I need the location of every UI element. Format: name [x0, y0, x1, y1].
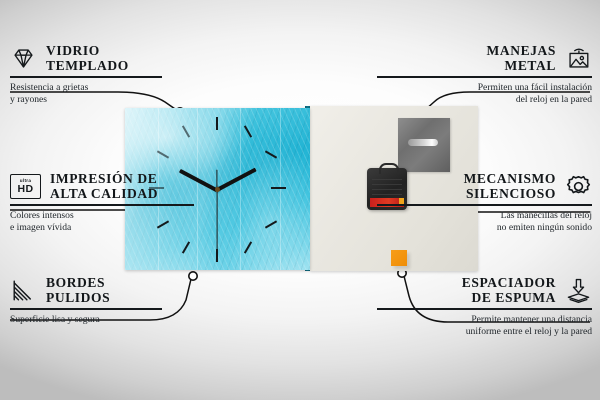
feature-desc-line2: del reloj en la pared	[377, 94, 592, 106]
feature-desc-line2: e imagen vívida	[10, 222, 225, 234]
feature-manejas-metal: MANEJAS METAL Permiten una fácil instala…	[377, 44, 592, 106]
ultra-hd-icon: ultra HD	[10, 174, 41, 199]
feature-desc-line1: Permiten una fácil instalación	[377, 82, 592, 94]
gear-icon	[565, 173, 592, 200]
feature-divider	[377, 308, 592, 310]
feature-desc-line2: uniforme entre el reloj y la pared	[377, 326, 592, 338]
feature-title-line2: TEMPLADO	[46, 59, 129, 74]
feature-desc-line2: y rayones	[10, 94, 225, 106]
feature-title-line1: BORDES	[46, 276, 110, 291]
hour-tick	[216, 117, 218, 130]
feature-vidrio-templado: VIDRIO TEMPLADO Resistencia a grietas y …	[10, 44, 225, 106]
ultra-hd-icon-bottom-text: HD	[18, 184, 34, 195]
feature-title-line2: ALTA CALIDAD	[50, 187, 158, 202]
feature-desc-line1: Colores intensos	[10, 210, 225, 222]
diamond-icon	[10, 45, 37, 72]
feature-title-line1: MANEJAS	[487, 44, 556, 59]
feature-divider	[10, 308, 162, 310]
wall-hanger-icon	[565, 45, 592, 72]
feature-mecanismo-silencioso: MECANISMO SILENCIOSO Las manecillas del …	[377, 172, 592, 234]
feature-desc-line1: Permite mantener una distancia	[377, 314, 592, 326]
hour-tick	[271, 187, 286, 189]
feature-divider	[10, 204, 194, 206]
feature-divider	[377, 204, 592, 206]
infographic-canvas: VIDRIO TEMPLADO Resistencia a grietas y …	[0, 0, 600, 400]
feature-divider	[10, 76, 162, 78]
feature-divider	[377, 76, 592, 78]
feature-title-line2: SILENCIOSO	[464, 187, 556, 202]
feature-title-line1: IMPRESIÓN DE	[50, 172, 158, 187]
metal-hanger-plate	[398, 118, 450, 172]
polished-edges-icon	[10, 277, 37, 304]
foam-spacer-pad	[391, 250, 407, 266]
hanger-slot	[408, 139, 438, 146]
feature-title-line1: ESPACIADOR	[462, 276, 556, 291]
feature-title-line1: VIDRIO	[46, 44, 129, 59]
feature-desc-line1: Las manecillas del reloj	[377, 210, 592, 222]
foam-spacer-icon	[565, 277, 592, 304]
feature-desc-line2: no emiten ningún sonido	[377, 222, 592, 234]
feature-espaciador-espuma: ESPACIADOR DE ESPUMA Permite mantener un…	[377, 276, 592, 338]
feature-title-line2: DE ESPUMA	[462, 291, 556, 306]
feature-impresion-alta-calidad: ultra HD IMPRESIÓN DE ALTA CALIDAD Color…	[10, 172, 225, 234]
feature-title-line2: PULIDOS	[46, 291, 110, 306]
feature-desc-line1: Superficie lisa y segura	[10, 314, 225, 326]
feature-title-line1: MECANISMO	[464, 172, 556, 187]
feature-bordes-pulidos: BORDES PULIDOS Superficie lisa y segura	[10, 276, 225, 326]
feature-desc-line1: Resistencia a grietas	[10, 82, 225, 94]
feature-title-line2: METAL	[487, 59, 556, 74]
